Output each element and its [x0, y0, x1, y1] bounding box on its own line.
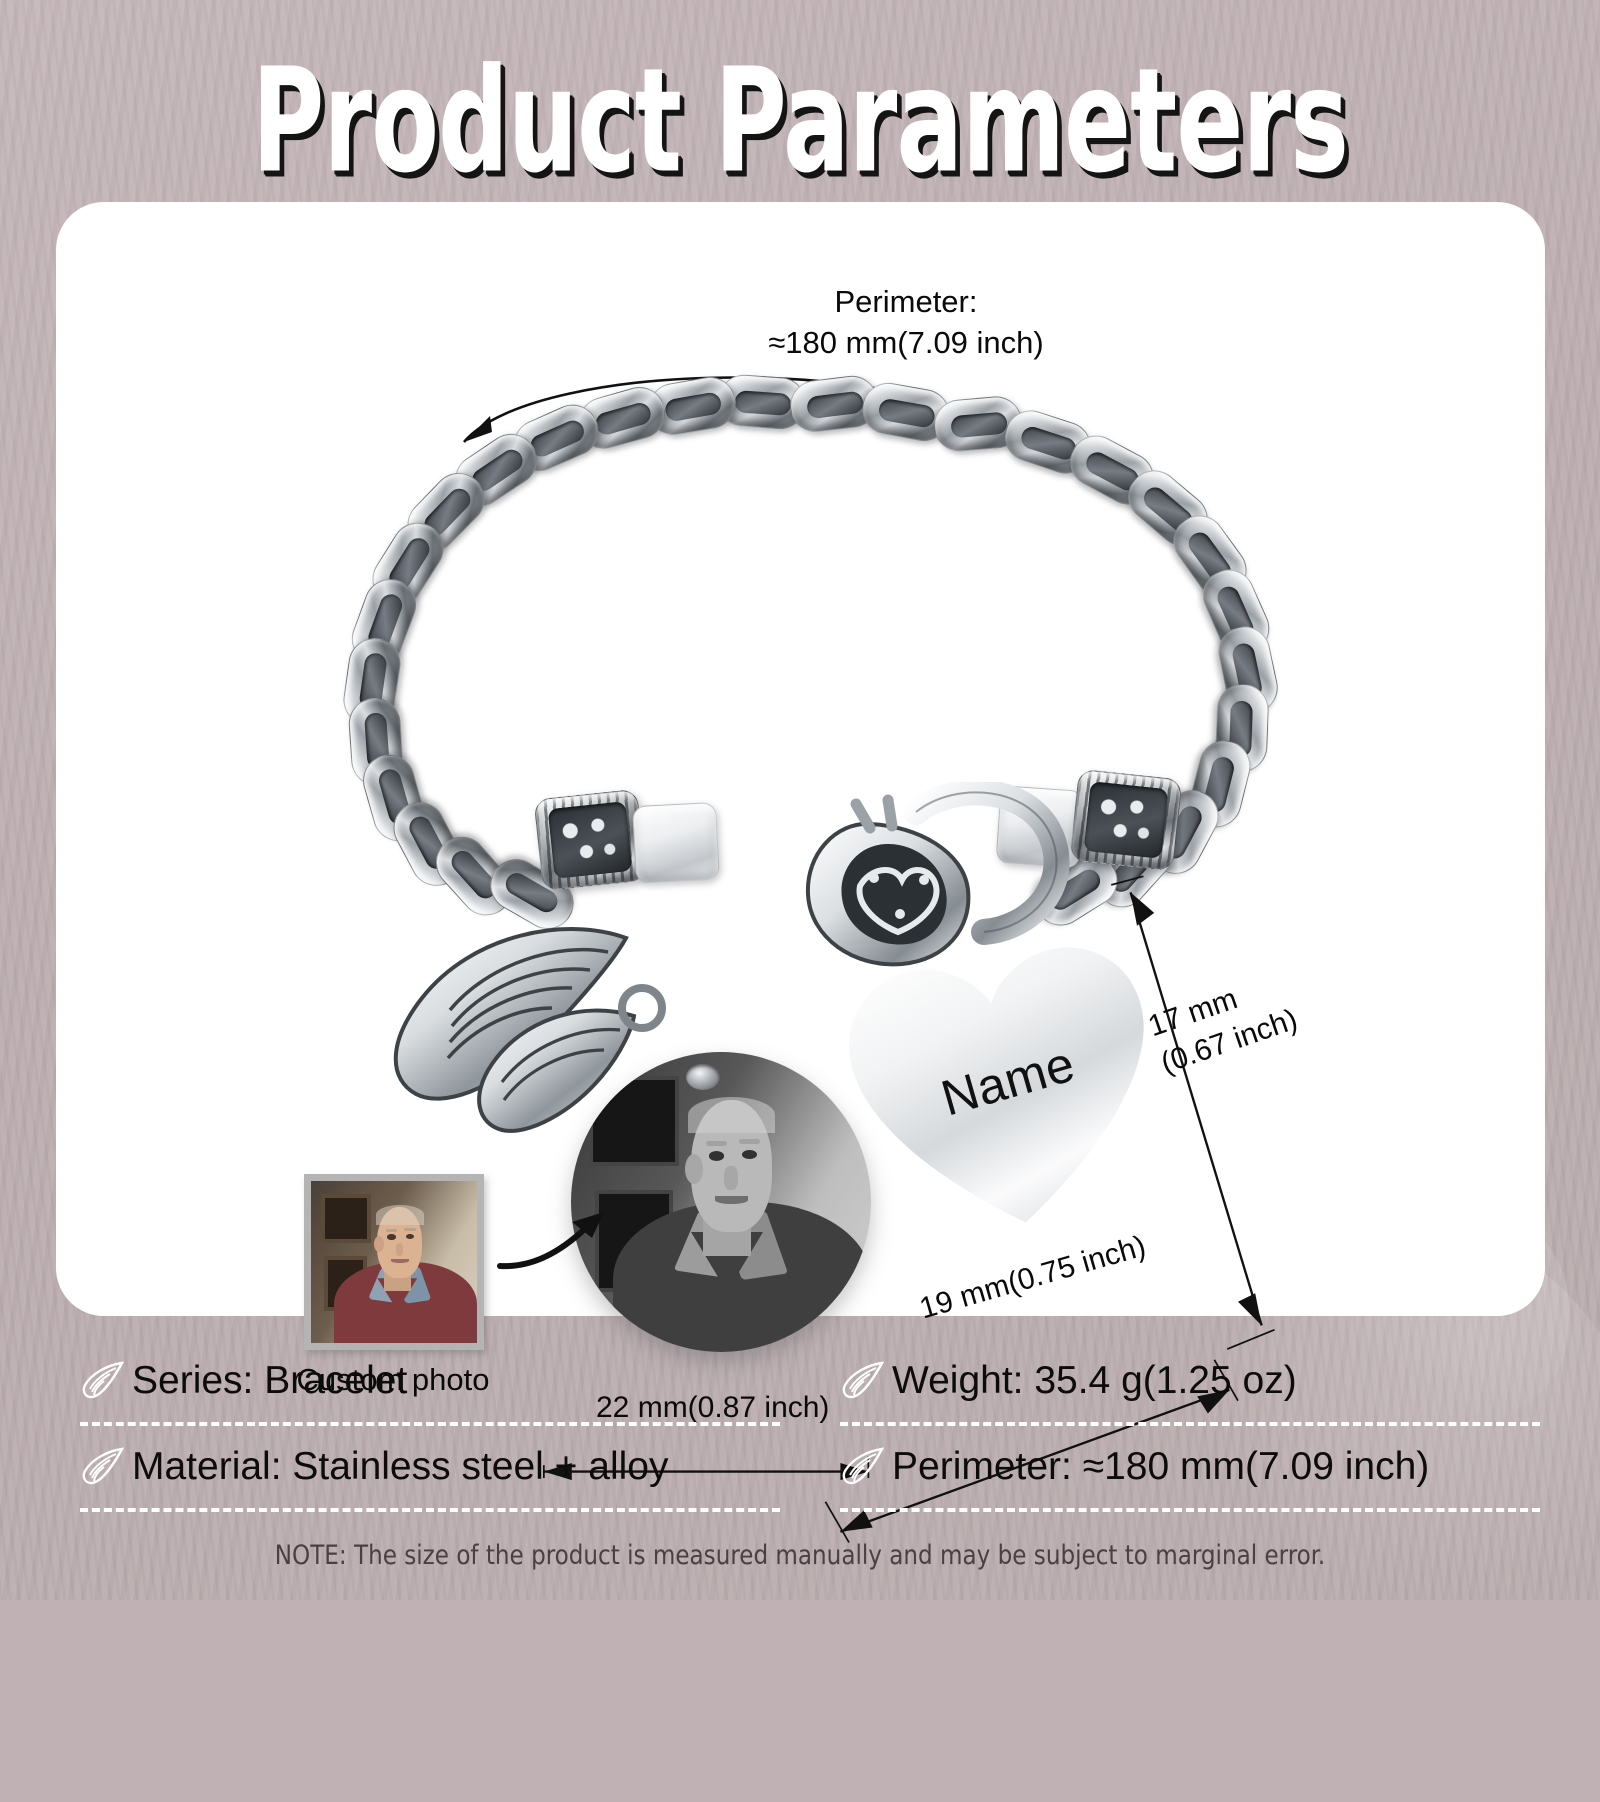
ornate-bead-left: [533, 789, 646, 891]
specifications-column-right: Weight: 35.4 g(1.25 oz) Perimeter: ≈180 …: [840, 1340, 1540, 1512]
photo-to-disc-arrow-icon: [496, 1202, 626, 1292]
perimeter-annotation-line1: Perimeter:: [696, 282, 1116, 323]
wing-icon: [840, 1359, 886, 1403]
ornate-bead-right: [1069, 769, 1182, 871]
spec-row-perimeter: Perimeter: ≈180 mm(7.09 inch): [840, 1426, 1540, 1508]
spec-row-material: Material: Stainless steel + alloy: [80, 1426, 780, 1508]
spec-row-weight: Weight: 35.4 g(1.25 oz): [840, 1340, 1540, 1422]
spec-label-series: Series: Bracelet: [132, 1359, 407, 1403]
heart-name-charm: Name: [856, 952, 1156, 1242]
spec-separator: [80, 1508, 780, 1512]
bead-filigree-pattern: [1084, 781, 1169, 859]
specifications-column-left: Series: Bracelet Material: Stainless ste…: [80, 1340, 780, 1512]
wing-icon: [80, 1445, 126, 1489]
spec-row-series: Series: Bracelet: [80, 1340, 780, 1422]
custom-portrait-image: [311, 1181, 477, 1343]
spec-separator: [840, 1508, 1540, 1512]
wing-icon: [840, 1445, 886, 1489]
spec-label-perimeter: Perimeter: ≈180 mm(7.09 inch): [892, 1445, 1429, 1489]
note-text: NOTE: The size of the product is measure…: [40, 1540, 1560, 1571]
barrel-segment-left: [632, 802, 720, 884]
disc-charm-hole: [686, 1064, 720, 1090]
bead-filigree-pattern: [548, 801, 633, 879]
page-title: Product Parameters: [56, 46, 1544, 197]
wing-icon: [80, 1359, 126, 1403]
product-card: Perimeter: ≈180 mm(7.09 inch): [56, 202, 1545, 1316]
custom-photo-thumbnail: [304, 1174, 484, 1350]
spec-label-material: Material: Stainless steel + alloy: [132, 1445, 669, 1489]
spec-label-weight: Weight: 35.4 g(1.25 oz): [892, 1359, 1297, 1403]
